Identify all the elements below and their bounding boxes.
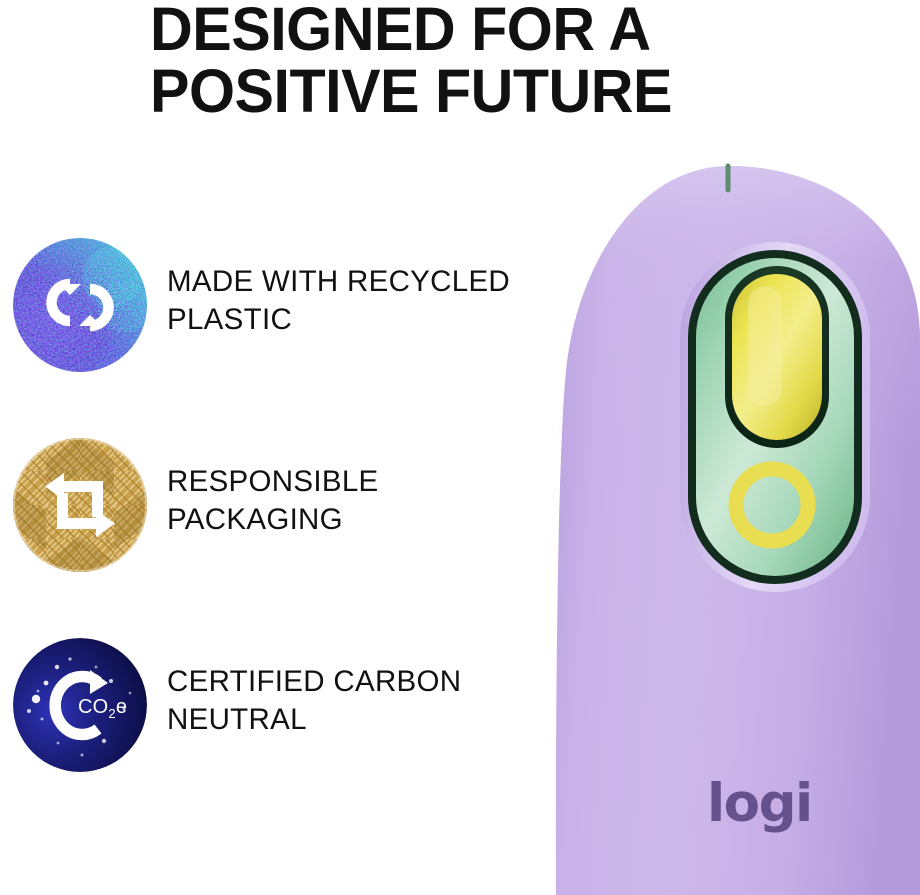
feature-label-recycled-plastic: MADE WITH RECYCLED PLASTIC <box>167 263 557 340</box>
feature-row-responsible-packaging: RESPONSIBLE PACKAGING <box>0 437 560 577</box>
feature-row-carbon-neutral: CO2e CERTIFIED CARBON NEUTRAL <box>0 637 560 777</box>
repeat-box-icon <box>12 437 148 573</box>
recycling-arrows-icon <box>12 237 148 373</box>
carbon-neutral-c-icon: CO2e <box>12 637 148 773</box>
badge-certified-carbon-neutral: CO2e <box>12 637 148 773</box>
feature-row-recycled-plastic: MADE WITH RECYCLED PLASTIC <box>0 237 560 377</box>
feature-label-carbon-neutral: CERTIFIED CARBON NEUTRAL <box>167 663 557 740</box>
badge-responsible-packaging <box>12 437 148 573</box>
badge-made-with-recycled-plastic <box>12 237 148 373</box>
product-feature-graphic: DESIGNED FOR A POSITIVE FUTURE <box>0 0 920 895</box>
svg-text:CO2e: CO2e <box>78 696 127 721</box>
page-title: DESIGNED FOR A POSITIVE FUTURE <box>150 0 848 122</box>
brand-logo-logi: logi <box>707 777 812 830</box>
feature-label-responsible-packaging: RESPONSIBLE PACKAGING <box>167 463 557 540</box>
